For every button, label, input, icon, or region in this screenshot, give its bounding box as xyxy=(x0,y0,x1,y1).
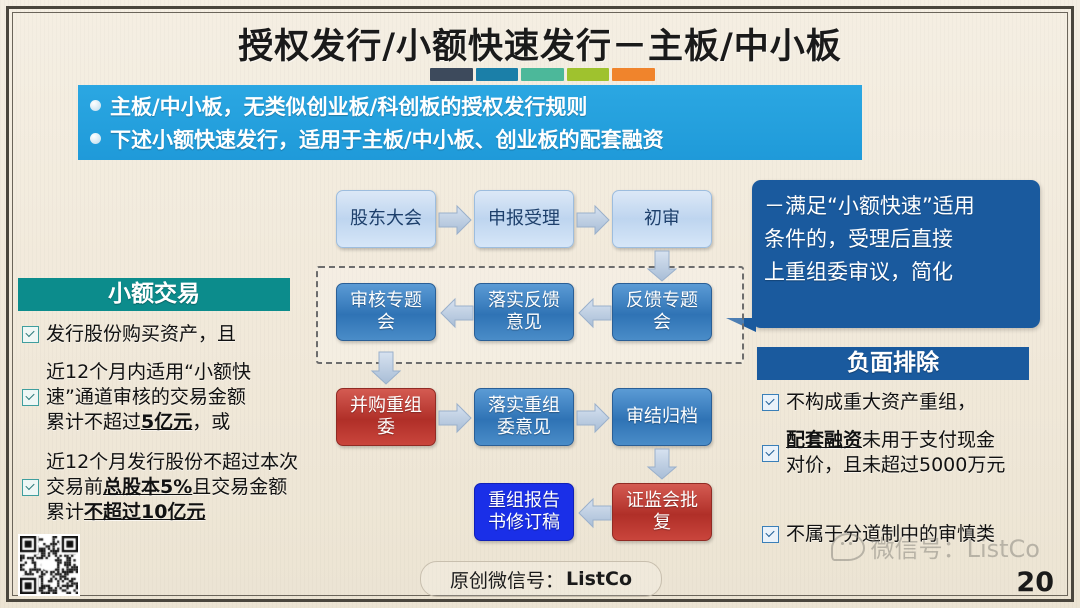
accent-swatch-4 xyxy=(567,68,610,81)
footer-account-pill: 原创微信号：ListCo xyxy=(420,561,662,597)
flow-node-n4[interactable]: 审核专题 会 xyxy=(336,283,436,341)
left-checklist-item-2: 近12个月内适用“小额快速”通道审核的交易金额累计不超过5亿元，或 xyxy=(22,360,322,435)
qr-code xyxy=(18,534,80,596)
slide-canvas: 授权发行/小额快速发行－主板/中小板 主板/中小板，无类似创业板/科创板的授权发… xyxy=(0,0,1080,608)
accent-color-bar xyxy=(430,68,655,81)
right-checklist-item-1: 不构成重大资产重组， xyxy=(762,390,1042,415)
left-checklist-text: 发行股份购买资产，且 xyxy=(46,322,236,347)
left-checklist-item-1: 发行股份购买资产，且 xyxy=(22,322,312,347)
left-checklist-text: 近12个月发行股份不超过本次交易前总股本5%且交易金额累计不超过10亿元 xyxy=(46,450,298,525)
right-checklist-text: 不构成重大资产重组， xyxy=(786,390,976,415)
flow-arrow-down-icon xyxy=(369,350,403,386)
flow-node-n2[interactable]: 申报受理 xyxy=(474,190,574,248)
bullet-dot-icon xyxy=(90,133,101,144)
flow-node-n10[interactable]: 重组报告 书修订稿 xyxy=(474,483,574,541)
footer-label: 原创微信号： xyxy=(450,566,564,593)
right-panel-header: 负面排除 xyxy=(757,347,1029,380)
page-title: 授权发行/小额快速发行－主板/中小板 xyxy=(0,18,1080,69)
left-panel-header: 小额交易 xyxy=(18,278,290,311)
accent-swatch-5 xyxy=(612,68,655,81)
flow-arrow-right-icon xyxy=(437,401,475,435)
flow-arrow-right-icon xyxy=(437,203,475,237)
flow-node-n7[interactable]: 并购重组 委 xyxy=(336,388,436,446)
left-checklist-item-3: 近12个月发行股份不超过本次交易前总股本5%且交易金额累计不超过10亿元 xyxy=(22,450,362,525)
flow-node-n1[interactable]: 股东大会 xyxy=(336,190,436,248)
left-checklist-text: 近12个月内适用“小额快速”通道审核的交易金额累计不超过5亿元，或 xyxy=(46,360,251,435)
right-checklist-text: 配套融资未用于支付现金对价，且未超过5000万元 xyxy=(786,428,1005,478)
flow-node-n9[interactable]: 审结归档 xyxy=(612,388,712,446)
checkbox-icon xyxy=(22,326,39,343)
checkbox-icon xyxy=(22,479,39,496)
right-checklist-text: 不属于分道制中的审慎类 xyxy=(786,522,995,547)
banner-bullet-row: 主板/中小板，无类似创业板/科创板的授权发行规则 xyxy=(90,89,862,122)
banner-bullet-text: 下述小额快速发行，适用于主板/中小板、创业板的配套融资 xyxy=(110,124,664,154)
flow-arrow-down-icon xyxy=(645,249,679,283)
flow-arrow-down-icon xyxy=(645,447,679,481)
flow-node-n11[interactable]: 证监会批 复 xyxy=(612,483,712,541)
page-number: 20 xyxy=(1016,567,1054,598)
right-checklist-item-3: 不属于分道制中的审慎类 xyxy=(762,522,1052,547)
checkbox-icon xyxy=(762,445,779,462)
bullet-dot-icon xyxy=(90,100,101,111)
checkbox-icon xyxy=(22,389,39,406)
right-checklist-item-2: 配套融资未用于支付现金对价，且未超过5000万元 xyxy=(762,428,1062,478)
flow-arrow-right-icon xyxy=(575,203,613,237)
flow-arrow-right-icon xyxy=(575,401,613,435)
checkbox-icon xyxy=(762,394,779,411)
callout-bubble: －满足“小额快速”适用 条件的，受理后直接 上重组委审议，简化 xyxy=(752,180,1040,328)
banner-bullet-text: 主板/中小板，无类似创业板/科创板的授权发行规则 xyxy=(110,91,587,121)
accent-swatch-3 xyxy=(521,68,564,81)
summary-banner: 主板/中小板，无类似创业板/科创板的授权发行规则 下述小额快速发行，适用于主板/… xyxy=(78,85,862,160)
flow-node-n6[interactable]: 反馈专题 会 xyxy=(612,283,712,341)
checkbox-icon xyxy=(762,526,779,543)
flow-node-n5[interactable]: 落实反馈 意见 xyxy=(474,283,574,341)
flow-node-n3[interactable]: 初审 xyxy=(612,190,712,248)
flow-arrow-left-icon xyxy=(575,496,613,530)
accent-swatch-2 xyxy=(476,68,519,81)
banner-bullet-row: 下述小额快速发行，适用于主板/中小板、创业板的配套融资 xyxy=(90,122,862,155)
footer-account: ListCo xyxy=(566,568,632,590)
flow-node-n8[interactable]: 落实重组 委意见 xyxy=(474,388,574,446)
flow-arrow-left-icon xyxy=(437,296,475,330)
flow-arrow-left-icon xyxy=(575,296,613,330)
accent-swatch-1 xyxy=(430,68,473,81)
